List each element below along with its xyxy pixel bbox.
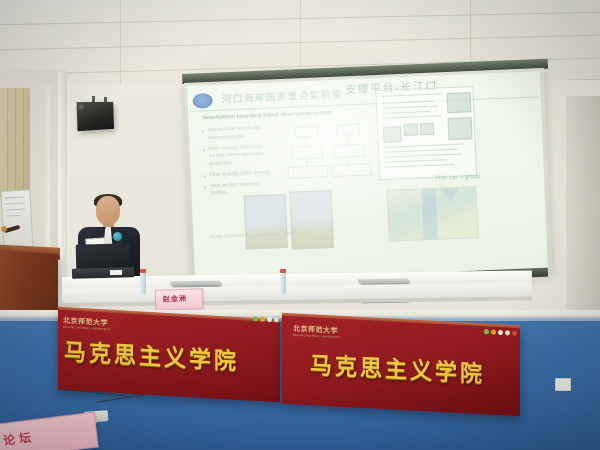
bottle-cap [280,269,286,273]
name-placard: 赵金洲 [155,288,204,311]
list-item: Point velocity (Electronic current meter… [204,143,273,169]
slide-photo-left [244,194,288,250]
university-logo-left: 北京师范大学 BEIJING NORMAL UNIVERSITY [63,316,111,332]
slide-bullet-list: Upward ADP and profile horizontal profil… [203,125,274,202]
slide-group-caption: Prof. Liu 's group [435,174,480,182]
slide-photo-mid [290,190,334,250]
slide-map-figure [387,186,479,242]
slide-title-cn: 河口海岸国家重点实验室 [221,86,343,106]
pink-banner-text: 论坛 [2,428,36,449]
lab-emblem-icon [192,93,213,109]
microphone-head-icon [1,226,7,232]
bottle-cap [140,269,146,273]
projection-screen: 河口海岸国家重点实验室 支撑平台-长江口 Near-bottom boundar… [187,71,548,284]
slide-schematic-diagram [284,123,381,187]
ceiling-panel-line [120,0,121,96]
slide-paper-figure [375,86,477,180]
laptop-sticker [110,270,122,275]
list-item: Flow visibility (OBS sensor) [205,169,273,180]
presenter-head [96,196,120,225]
water-bottle [280,272,286,294]
lecture-hall-photo: 河口海岸国家重点实验室 支撑平台-长江口 Near-bottom boundar… [0,0,600,450]
water-bottle [140,272,146,294]
microphone-head-icon [113,232,122,241]
laptop-base[interactable] [72,267,134,279]
lectern-control-panel[interactable] [0,189,33,252]
wall-speaker [77,102,115,131]
door-frame [566,96,600,316]
list-item: Upward ADP and profile horizontal profil… [203,125,272,143]
window-curtain [0,88,30,198]
university-logo-right: 北京师范大学 BEIJING NORMAL UNIVERSITY [293,324,341,340]
wall-outlet[interactable] [555,378,571,391]
name-placard-text: 赵金洲 [163,294,187,305]
slide-subtitle: Near-bottom boundary tripod observation … [202,110,332,121]
